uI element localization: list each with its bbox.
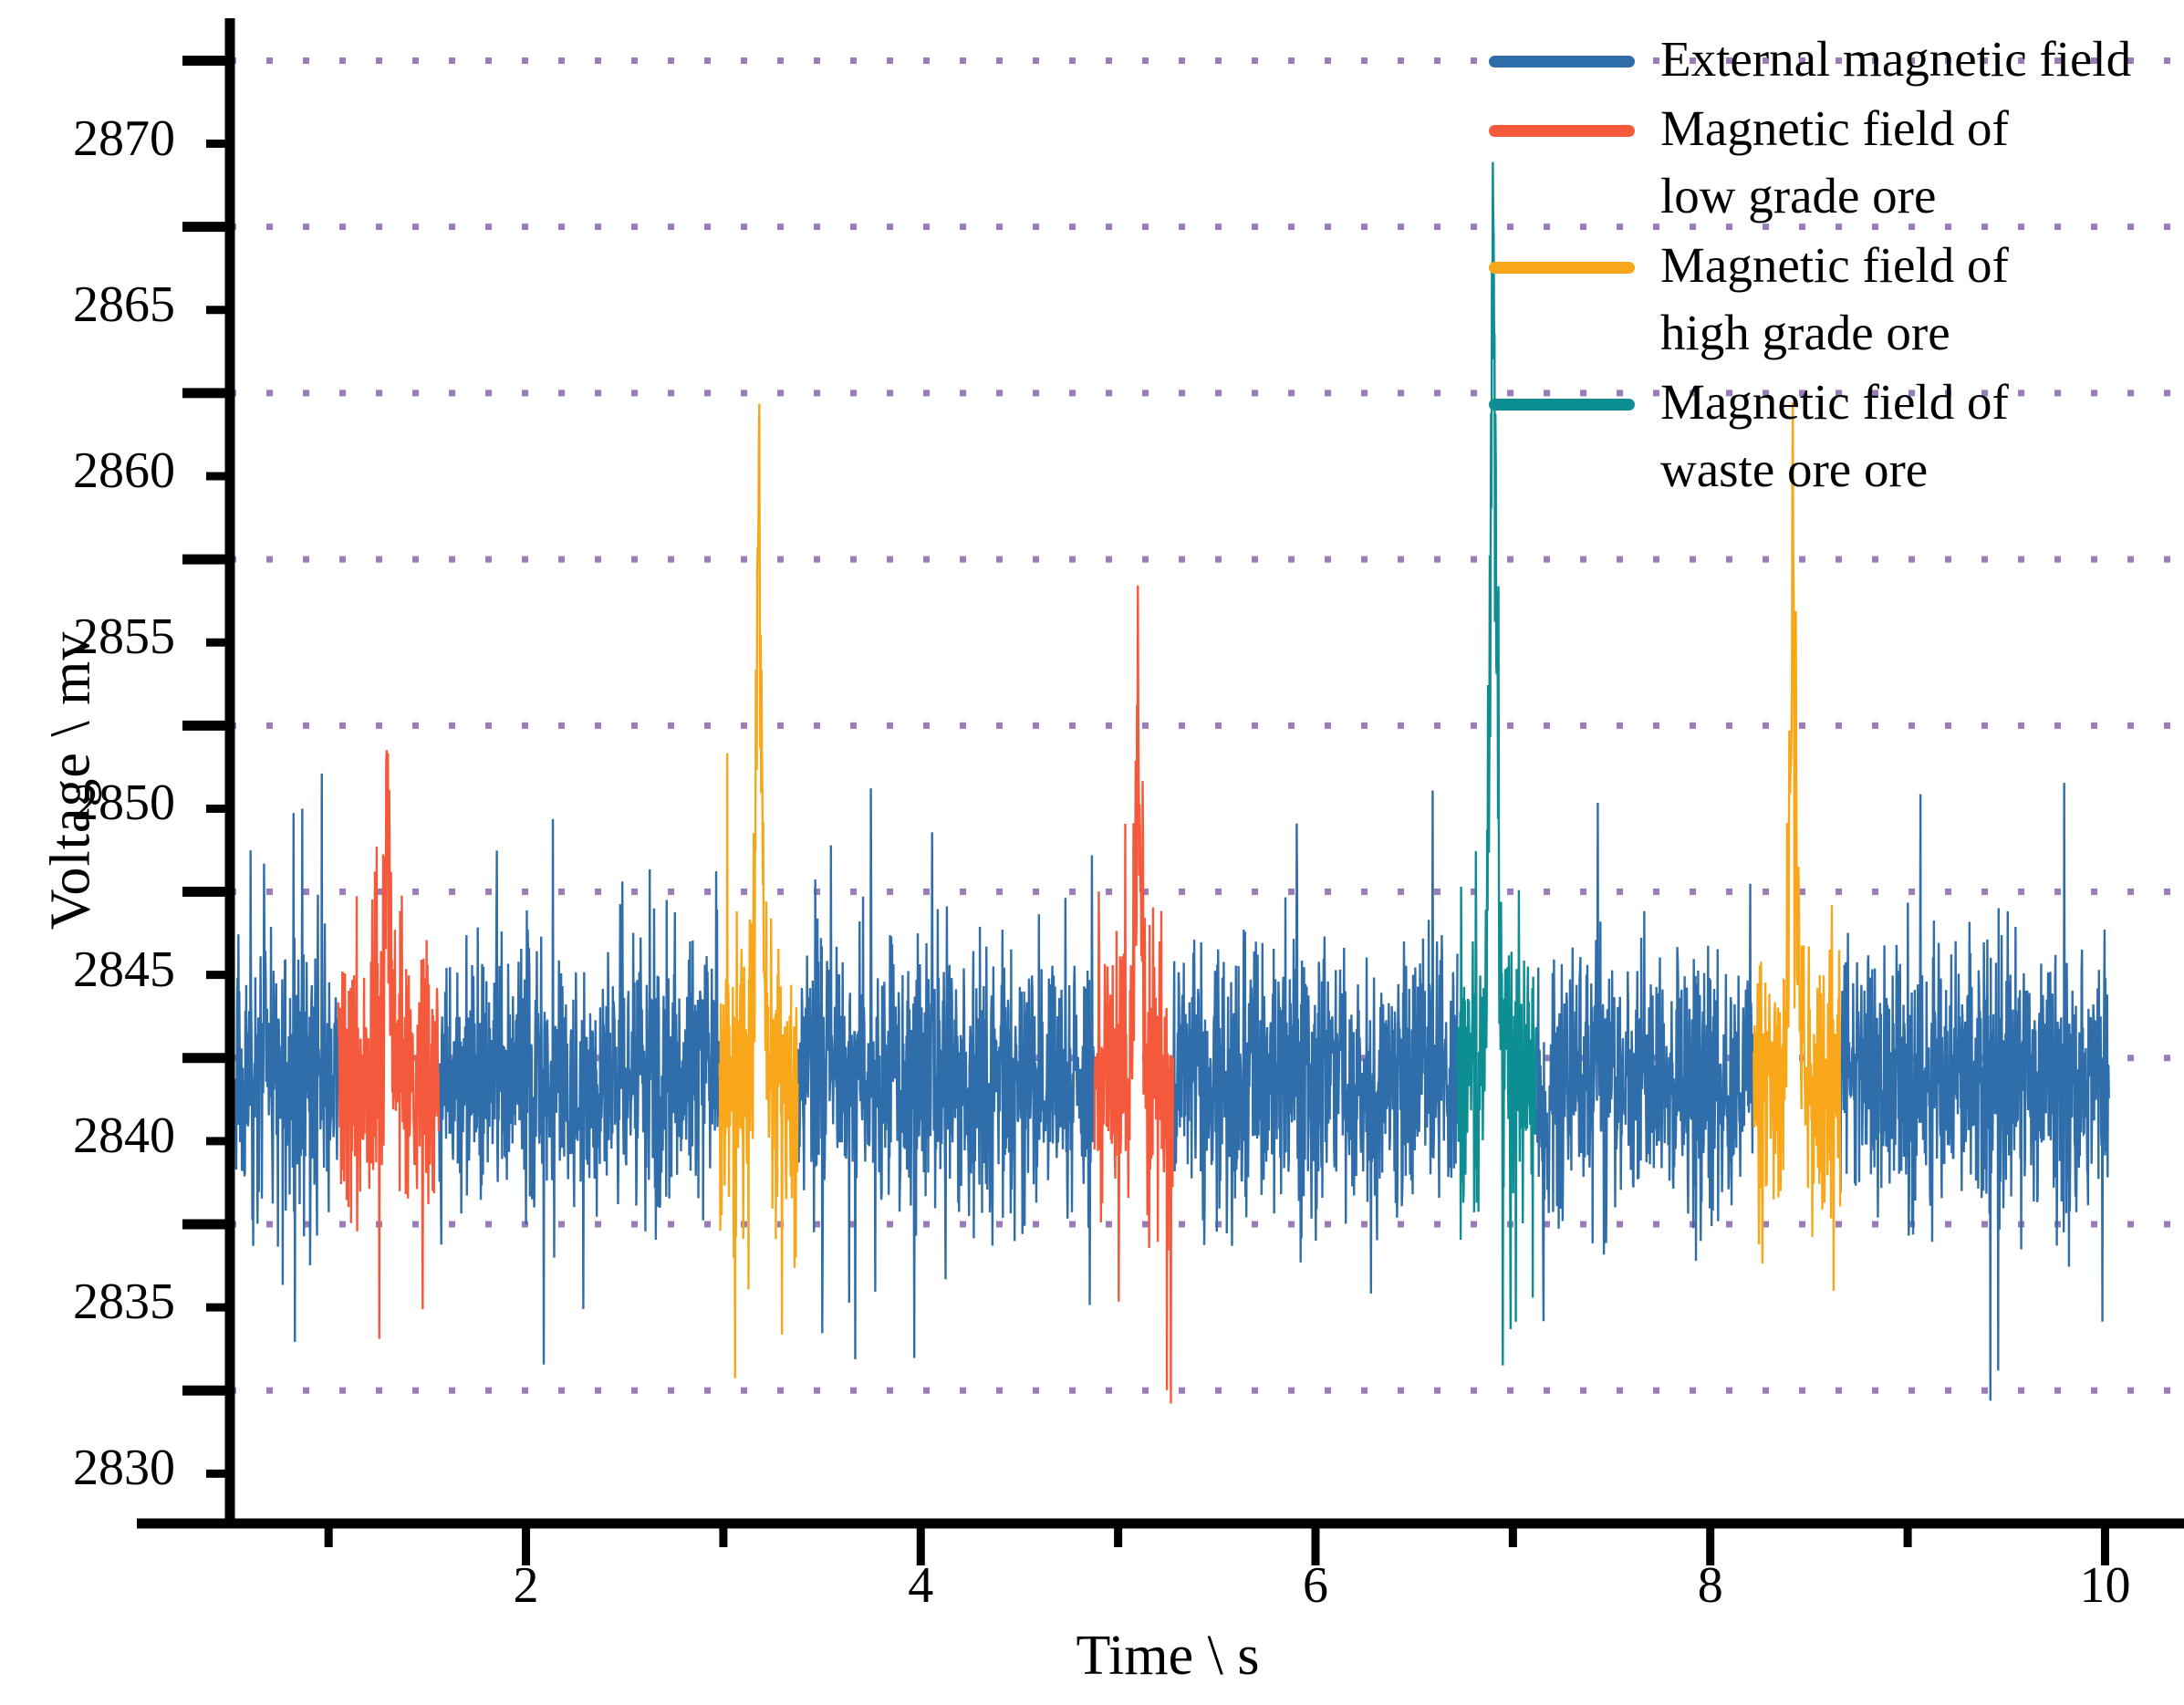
y-tick-label: 2855	[0, 611, 175, 662]
x-tick-label: 6	[1243, 1560, 1388, 1611]
legend-swatch-high-grade-ore	[1489, 262, 1635, 274]
legend-label: Magnetic field of high grade ore	[1660, 232, 2009, 367]
chart-figure: Voltage \ mv Time \ s 283028352840284528…	[0, 0, 2184, 1705]
y-tick-label: 2835	[0, 1276, 175, 1327]
legend-label: Magnetic field of waste ore ore	[1660, 369, 2009, 504]
y-tick-label: 2865	[0, 279, 175, 330]
y-tick-label: 2870	[0, 113, 175, 164]
legend-item[interactable]: Magnetic field of high grade ore	[1489, 232, 2182, 367]
y-tick-label: 2860	[0, 445, 175, 496]
y-tick-label: 2830	[0, 1442, 175, 1493]
legend-item[interactable]: Magnetic field of waste ore ore	[1489, 369, 2182, 504]
x-tick-label: 2	[453, 1560, 599, 1611]
x-tick-label: 4	[848, 1560, 993, 1611]
legend-label: Magnetic field of low grade ore	[1660, 95, 2009, 230]
legend-swatch-external-magnetic-field	[1489, 56, 1635, 68]
legend-swatch-low-grade-ore	[1489, 125, 1635, 137]
legend: External magnetic field Magnetic field o…	[1489, 26, 2182, 505]
y-tick-label: 2850	[0, 777, 175, 828]
y-tick-label: 2840	[0, 1110, 175, 1161]
y-tick-label: 2845	[0, 944, 175, 995]
legend-item[interactable]: External magnetic field	[1489, 26, 2182, 93]
legend-item[interactable]: Magnetic field of low grade ore	[1489, 95, 2182, 230]
x-tick-label: 8	[1638, 1560, 1784, 1611]
x-tick-label: 10	[2032, 1560, 2178, 1611]
legend-swatch-waste-ore	[1489, 399, 1635, 411]
legend-label: External magnetic field	[1660, 26, 2131, 93]
